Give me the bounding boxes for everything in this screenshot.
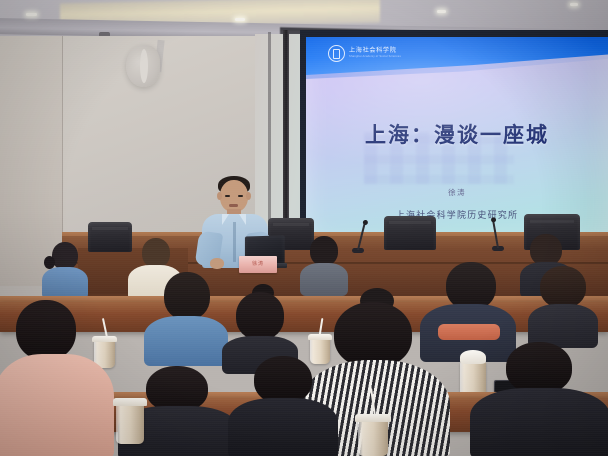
ceiling-downlight-icon <box>235 18 245 21</box>
attendee-head <box>16 300 76 360</box>
attendee-head <box>334 302 412 368</box>
attendee-head <box>310 236 338 266</box>
cup-lid <box>113 398 147 406</box>
slide-logo-en: Shanghai Academy of Social Sciences <box>349 56 401 59</box>
attendee-right-wavy-hair <box>528 266 598 346</box>
attendee-pink-top <box>0 300 114 456</box>
presenter-hand <box>210 258 224 269</box>
attendee-body <box>228 398 338 456</box>
name-placard-text: 徐涛 <box>239 260 277 267</box>
wall-speaker-icon <box>126 45 160 87</box>
ceiling-downlight-icon <box>26 13 37 16</box>
presenter-ear <box>217 192 222 200</box>
attendee-head <box>142 238 170 268</box>
slide-logo: 上海社会科学院 Shanghai Academy of Social Scien… <box>328 45 401 62</box>
attendee-body <box>470 388 608 456</box>
drink-cup <box>358 420 388 456</box>
attendee-head <box>52 242 78 270</box>
attendee-blue-shirt <box>144 272 228 364</box>
attendee-back-row-left <box>42 242 88 298</box>
lecture-hall-photo: 上海社会科学院 Shanghai Academy of Social Scien… <box>0 0 608 456</box>
name-placard: 徐涛 <box>239 256 277 273</box>
dais-chair <box>384 216 436 250</box>
attendee-head <box>254 356 312 404</box>
attendee-body <box>0 354 114 456</box>
presenter-shirt-placket <box>233 222 236 262</box>
presenter-ear <box>246 192 251 200</box>
dais-chair <box>88 222 132 252</box>
slide-logo-text: 上海社会科学院 Shanghai Academy of Social Scien… <box>349 48 401 58</box>
presenter-mouth <box>229 204 238 207</box>
presenter-collar <box>222 214 229 225</box>
drink-cup <box>116 404 144 444</box>
attendee-head <box>446 262 496 310</box>
attendee-back-row-right <box>300 236 348 294</box>
presenter-eye <box>238 195 243 197</box>
attendee-front-dark-center <box>228 356 338 456</box>
attendee-head <box>164 272 210 320</box>
slide-logo-cn: 上海社会科学院 <box>349 48 401 54</box>
attendee-head <box>540 266 586 308</box>
attendee-front-right <box>470 342 608 456</box>
sass-emblem-icon <box>328 45 345 62</box>
ceiling-downlight-icon <box>570 3 578 6</box>
presenter-collar <box>239 214 246 225</box>
slide-title: 上海：漫谈一座城 <box>306 119 608 149</box>
slide-presenter-name: 徐涛 <box>306 187 608 198</box>
ceiling-downlight-icon <box>437 10 446 13</box>
attendee-body <box>144 316 228 366</box>
presenter-eye <box>225 195 230 197</box>
attendee-head <box>236 292 284 340</box>
attendee-head <box>506 342 572 394</box>
